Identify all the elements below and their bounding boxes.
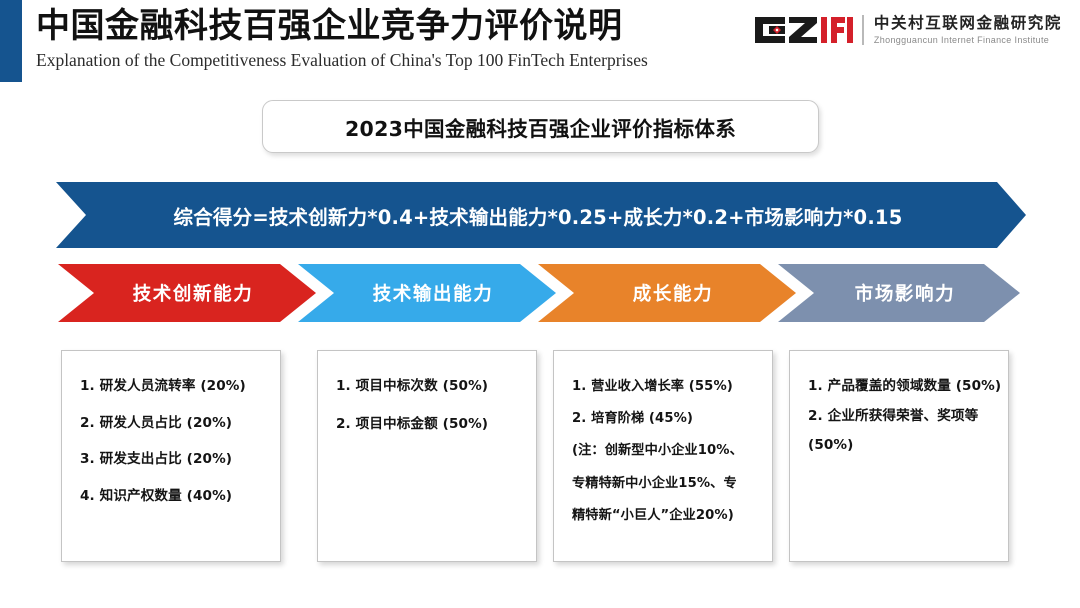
czifi-logo-icon xyxy=(755,15,853,45)
detail-line: 3. 研发支出占比 (20%) xyxy=(80,452,268,468)
detail-box-technology-innovation: 1. 研发人员流转率 (20%) 2. 研发人员占比 (20%) 3. 研发支出… xyxy=(61,350,281,562)
logo-divider xyxy=(862,15,864,45)
logo-institute-name-cn: 中关村互联网金融研究院 xyxy=(874,15,1062,32)
detail-line: 专精特新中小企业15%、专 xyxy=(572,476,760,491)
detail-line: (注：创新型中小企业10%、 xyxy=(572,443,760,458)
page-subtitle: Explanation of the Competitiveness Evalu… xyxy=(36,50,736,71)
detail-line: 1. 项目中标次数 (50%) xyxy=(336,379,524,395)
detail-line: 2. 企业所获得荣誉、奖项等 xyxy=(808,409,996,425)
dimension-label: 技术输出能力 xyxy=(361,280,494,306)
dimension-label: 技术创新能力 xyxy=(121,280,254,306)
dimension-chevron-row: 技术创新能力 技术输出能力 成长能力 市场影响力 xyxy=(0,264,1080,322)
logo-institute-name: 中关村互联网金融研究院 Zhongguancun Internet Financ… xyxy=(874,15,1062,44)
detail-line: 1. 研发人员流转率 (20%) xyxy=(80,379,268,395)
detail-box-growth: 1. 营业收入增长率 (55%) 2. 培育阶梯 (45%) (注：创新型中小企… xyxy=(553,350,773,562)
institute-logo: 中关村互联网金融研究院 Zhongguancun Internet Financ… xyxy=(755,10,1062,50)
dimension-chevron-technology-innovation[interactable]: 技术创新能力 xyxy=(58,264,316,322)
detail-line: 精特新“小巨人”企业20%) xyxy=(572,508,760,523)
header-block: 中国金融科技百强企业竞争力评价说明 Explanation of the Com… xyxy=(36,6,736,71)
detail-box-row: 1. 研发人员流转率 (20%) 2. 研发人员占比 (20%) 3. 研发支出… xyxy=(0,350,1080,570)
detail-line: 2. 研发人员占比 (20%) xyxy=(80,416,268,432)
detail-line: 1. 营业收入增长率 (55%) xyxy=(572,379,760,394)
detail-line: (50%) xyxy=(808,438,996,454)
page-title: 中国金融科技百强企业竞争力评价说明 xyxy=(36,6,736,47)
indicator-system-card: 2023中国金融科技百强企业评价指标体系 xyxy=(262,100,819,153)
dimension-chevron-growth[interactable]: 成长能力 xyxy=(538,264,796,322)
dimension-chevron-technology-output[interactable]: 技术输出能力 xyxy=(298,264,556,322)
composite-score-formula-text: 综合得分=技术创新力*0.4+技术输出能力*0.25+成长力*0.2+市场影响力… xyxy=(174,201,909,230)
detail-box-market-influence: 1. 产品覆盖的领域数量 (50%) 2. 企业所获得荣誉、奖项等 (50%) xyxy=(789,350,1009,562)
indicator-system-title: 2023中国金融科技百强企业评价指标体系 xyxy=(345,112,736,142)
detail-line: 1. 产品覆盖的领域数量 (50%) xyxy=(808,379,996,395)
detail-line: 2. 培育阶梯 (45%) xyxy=(572,411,760,426)
header-accent-bar xyxy=(0,0,22,82)
detail-line: 4. 知识产权数量 (40%) xyxy=(80,489,268,505)
dimension-chevron-market-influence[interactable]: 市场影响力 xyxy=(778,264,1020,322)
composite-score-formula-banner: 综合得分=技术创新力*0.4+技术输出能力*0.25+成长力*0.2+市场影响力… xyxy=(56,182,1026,248)
dimension-label: 市场影响力 xyxy=(843,280,956,306)
dimension-label: 成长能力 xyxy=(621,280,713,306)
detail-box-technology-output: 1. 项目中标次数 (50%) 2. 项目中标金额 (50%) xyxy=(317,350,537,562)
logo-institute-name-en: Zhongguancun Internet Finance Institute xyxy=(874,35,1062,45)
detail-line: 2. 项目中标金额 (50%) xyxy=(336,417,524,433)
